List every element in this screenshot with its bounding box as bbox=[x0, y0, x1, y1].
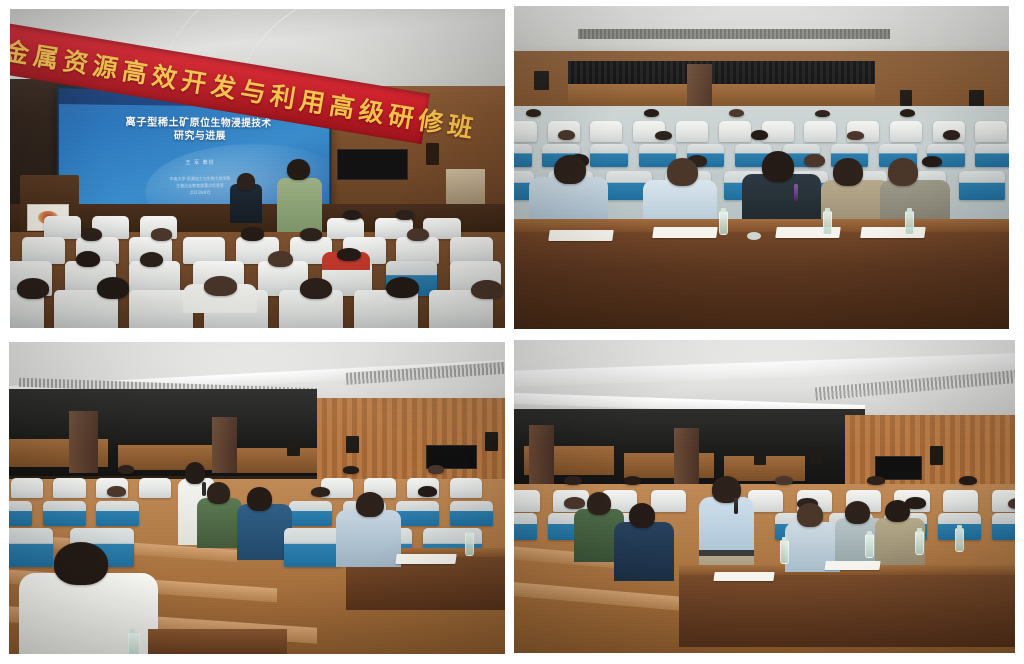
attendee-head bbox=[833, 158, 863, 186]
speaker-box-icon bbox=[485, 432, 498, 451]
handout-paper bbox=[860, 227, 926, 238]
attendee-head bbox=[845, 501, 870, 524]
wall-column bbox=[212, 417, 237, 473]
attendee-head bbox=[587, 492, 611, 515]
presenter-head bbox=[237, 173, 255, 190]
speaker-box-icon bbox=[426, 143, 439, 165]
foreground-desk bbox=[148, 629, 287, 654]
speaking-attendee-head bbox=[762, 151, 794, 181]
water-bottle bbox=[865, 534, 874, 558]
water-bottle bbox=[780, 540, 789, 564]
ceiling-vent bbox=[578, 29, 890, 39]
handout-paper bbox=[652, 227, 718, 238]
photo-speaker-with-microphone bbox=[514, 340, 1015, 653]
water-bottle bbox=[719, 211, 728, 235]
attendee-head bbox=[885, 500, 910, 523]
attendee-head bbox=[629, 503, 655, 528]
speaker-box-icon bbox=[930, 446, 943, 465]
speaker-box-icon bbox=[754, 450, 766, 466]
photo-lecture-hall-presentation-wide: 离子型稀土矿原位生物浸提技术 研究与进展 王 军 教授 中南大学·资源加工与生物… bbox=[10, 9, 505, 328]
attendee-figure bbox=[614, 522, 674, 581]
wall-column bbox=[674, 428, 699, 484]
water-bottle bbox=[915, 531, 924, 555]
water-bottle bbox=[905, 211, 914, 235]
handout-paper bbox=[395, 554, 456, 564]
attendee-head bbox=[797, 503, 823, 527]
wall-wood-panel bbox=[624, 453, 714, 478]
water-bottle bbox=[465, 532, 474, 556]
photo-collage: 离子型稀土矿原位生物浸提技术 研究与进展 王 军 教授 中南大学·资源加工与生物… bbox=[0, 0, 1024, 664]
speaker-box-icon bbox=[287, 439, 300, 456]
wall-column bbox=[69, 411, 99, 473]
handheld-microphone bbox=[202, 482, 206, 496]
water-bottle bbox=[955, 528, 964, 552]
speaker-box-icon bbox=[900, 90, 912, 106]
speaker-box-icon bbox=[534, 71, 549, 90]
handout-paper bbox=[824, 561, 880, 570]
attendee-head bbox=[888, 158, 919, 186]
writing-attendee-head bbox=[356, 492, 384, 517]
handout-paper bbox=[548, 230, 614, 241]
photo-front-row-attendees bbox=[514, 6, 1009, 329]
photo-audience-question-standing bbox=[9, 342, 505, 654]
speaker-box-icon bbox=[346, 436, 359, 453]
attendee-head bbox=[247, 487, 272, 511]
attendee-head bbox=[667, 158, 698, 186]
standing-attendee-head bbox=[287, 159, 310, 180]
handheld-microphone bbox=[734, 498, 738, 514]
standing-questioner-head bbox=[185, 462, 206, 484]
handout-paper bbox=[714, 572, 775, 581]
speaker-box-icon bbox=[810, 446, 822, 463]
water-bottle bbox=[128, 632, 140, 654]
belt bbox=[699, 550, 754, 556]
wall-tv bbox=[337, 149, 408, 180]
foreground-attendee-head bbox=[54, 542, 109, 586]
water-bottle bbox=[823, 211, 832, 235]
wall-column bbox=[529, 425, 554, 488]
handheld-microphone bbox=[794, 184, 798, 201]
writing-attendee-figure bbox=[336, 510, 400, 566]
seat-row-front bbox=[10, 274, 505, 328]
attendee-head bbox=[207, 482, 230, 504]
attendee-head bbox=[554, 155, 586, 184]
